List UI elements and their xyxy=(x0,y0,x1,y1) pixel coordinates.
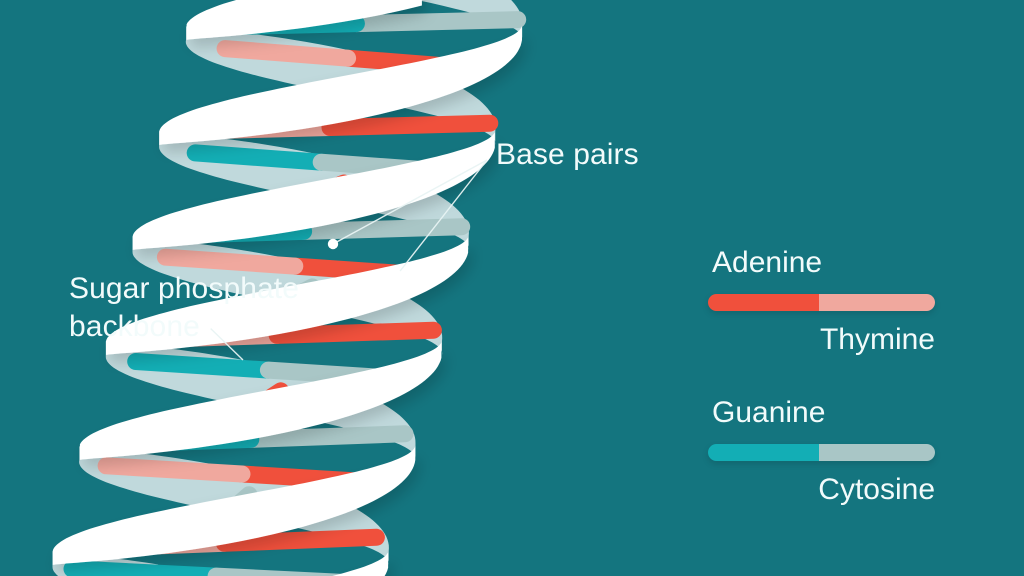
dna-diagram-canvas: Base pairs Sugar phosphate backbone Aden… xyxy=(0,0,1024,576)
base-pair-half xyxy=(136,362,269,371)
base-pair-half xyxy=(106,466,242,474)
legend-item-guanine-cytosine: Guanine Cytosine xyxy=(708,398,935,505)
legend-swatch-guanine xyxy=(708,444,819,461)
annotation-label-sugar-phosphate-backbone: Sugar phosphate backbone xyxy=(69,270,299,347)
base-pair-half xyxy=(330,123,490,127)
legend-swatch-thymine xyxy=(819,294,935,311)
legend-label-thymine: Thymine xyxy=(708,325,935,355)
base-pair-half xyxy=(72,569,216,576)
base-pairs-leader-dot xyxy=(392,270,402,280)
legend-swatch-adenine xyxy=(708,294,819,311)
base-pair-half xyxy=(304,227,462,232)
base-pair-half xyxy=(165,257,294,266)
base-pair-half xyxy=(277,330,433,335)
base-pair-half xyxy=(195,153,321,162)
legend-label-cytosine: Cytosine xyxy=(708,475,935,505)
annotation-label-base-pairs: Base pairs xyxy=(496,136,639,174)
legend-bar-adenine-thymine xyxy=(708,294,935,311)
legend-swatch-cytosine xyxy=(819,444,935,461)
legend-item-adenine-thymine: Adenine Thymine xyxy=(708,248,935,355)
base-pair-half xyxy=(225,49,348,59)
base-pair-half xyxy=(356,20,517,24)
legend-label-guanine: Guanine xyxy=(712,398,935,428)
legend-bar-guanine-cytosine xyxy=(708,444,935,461)
legend-label-adenine: Adenine xyxy=(712,248,935,278)
base-pairs-leader-dot xyxy=(328,239,338,249)
